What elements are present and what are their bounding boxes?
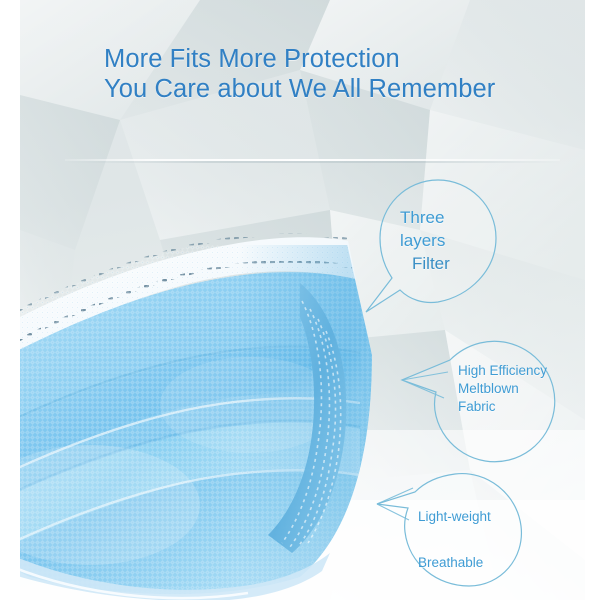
callout-high-efficiency-meltblown-fabric[interactable]: High Efficiency Meltblown Fabric <box>400 322 565 452</box>
headline-line-2: You Care about We All Remember <box>104 74 495 104</box>
left-margin <box>0 0 20 600</box>
callout-text: Light-weight Breathable <box>418 494 491 586</box>
header-divider-shadow <box>65 161 560 163</box>
callout-line-2: Breathable <box>418 540 491 586</box>
mask-product-image <box>0 205 420 600</box>
callout-three-layers-filter[interactable]: Three layers Filter <box>372 180 512 330</box>
callout-line-1: Three <box>400 206 450 229</box>
page-title: More Fits More Protection You Care about… <box>104 44 495 104</box>
callout-text: Three layers Filter <box>400 206 450 275</box>
callout-text: High Efficiency Meltblown Fabric <box>458 362 547 416</box>
callout-line-3: Filter <box>400 252 450 275</box>
callout-line-2: layers <box>400 229 450 252</box>
callout-line-3: Fabric <box>458 398 547 416</box>
header-divider <box>65 159 560 161</box>
callout-light-weight-breathable[interactable]: Light-weight Breathable <box>375 462 535 587</box>
right-margin <box>585 0 600 600</box>
product-banner: More Fits More Protection You Care about… <box>0 0 600 600</box>
callout-line-1: Light-weight <box>418 494 491 540</box>
headline-line-1: More Fits More Protection <box>104 44 495 74</box>
callout-line-2: Meltblown <box>458 380 547 398</box>
callout-line-1: High Efficiency <box>458 362 547 380</box>
